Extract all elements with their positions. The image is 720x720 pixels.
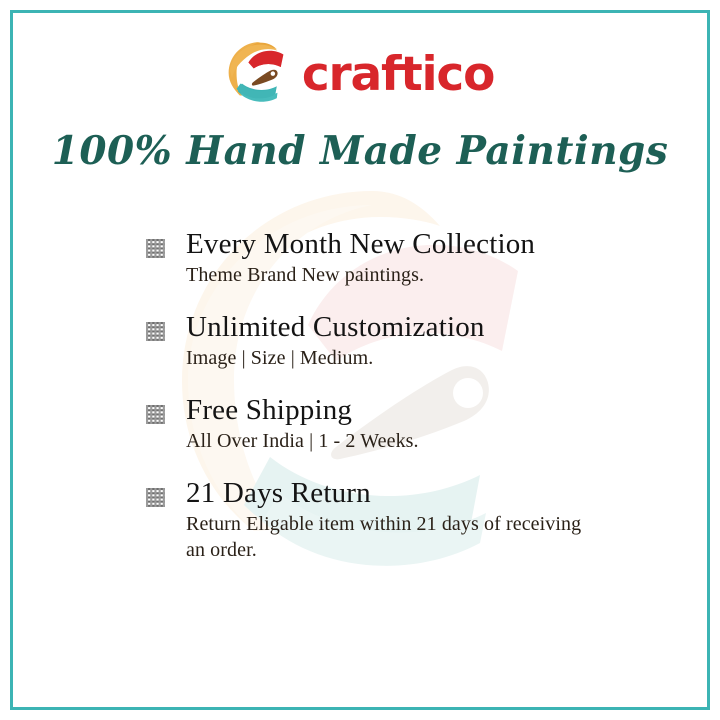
- feature-subtitle: Return Eligable item within 21 days of r…: [186, 511, 586, 564]
- woven-grid-square-bullet-icon: [146, 488, 165, 507]
- brand-wordmark: craftico: [302, 51, 494, 98]
- feature-title: Free Shipping: [186, 394, 616, 426]
- feature-subtitle: Image | Size | Medium.: [186, 345, 586, 371]
- woven-grid-square-bullet-icon: [146, 239, 165, 258]
- feature-title: Every Month New Collection: [186, 228, 616, 260]
- feature-subtitle: All Over India | 1 - 2 Weeks.: [186, 428, 586, 454]
- feature-list: Every Month New Collection Theme Brand N…: [146, 228, 616, 564]
- brand-logo-lockup: craftico: [0, 36, 720, 110]
- headline-text: 100% Hand Made Paintings: [0, 128, 720, 174]
- woven-grid-square-bullet-icon: [146, 405, 165, 424]
- feature-subtitle: Theme Brand New paintings.: [186, 262, 586, 288]
- craftico-c-paintbrush-logo-icon: [226, 40, 292, 106]
- feature-title: Unlimited Customization: [186, 311, 616, 343]
- list-item: Free Shipping All Over India | 1 - 2 Wee…: [146, 394, 616, 455]
- list-item: Every Month New Collection Theme Brand N…: [146, 228, 616, 289]
- list-item: 21 Days Return Return Eligable item with…: [146, 477, 616, 564]
- list-item: Unlimited Customization Image | Size | M…: [146, 311, 616, 372]
- woven-grid-square-bullet-icon: [146, 322, 165, 341]
- feature-title: 21 Days Return: [186, 477, 616, 509]
- promo-banner: craftico 100% Hand Made Paintings: [0, 0, 720, 720]
